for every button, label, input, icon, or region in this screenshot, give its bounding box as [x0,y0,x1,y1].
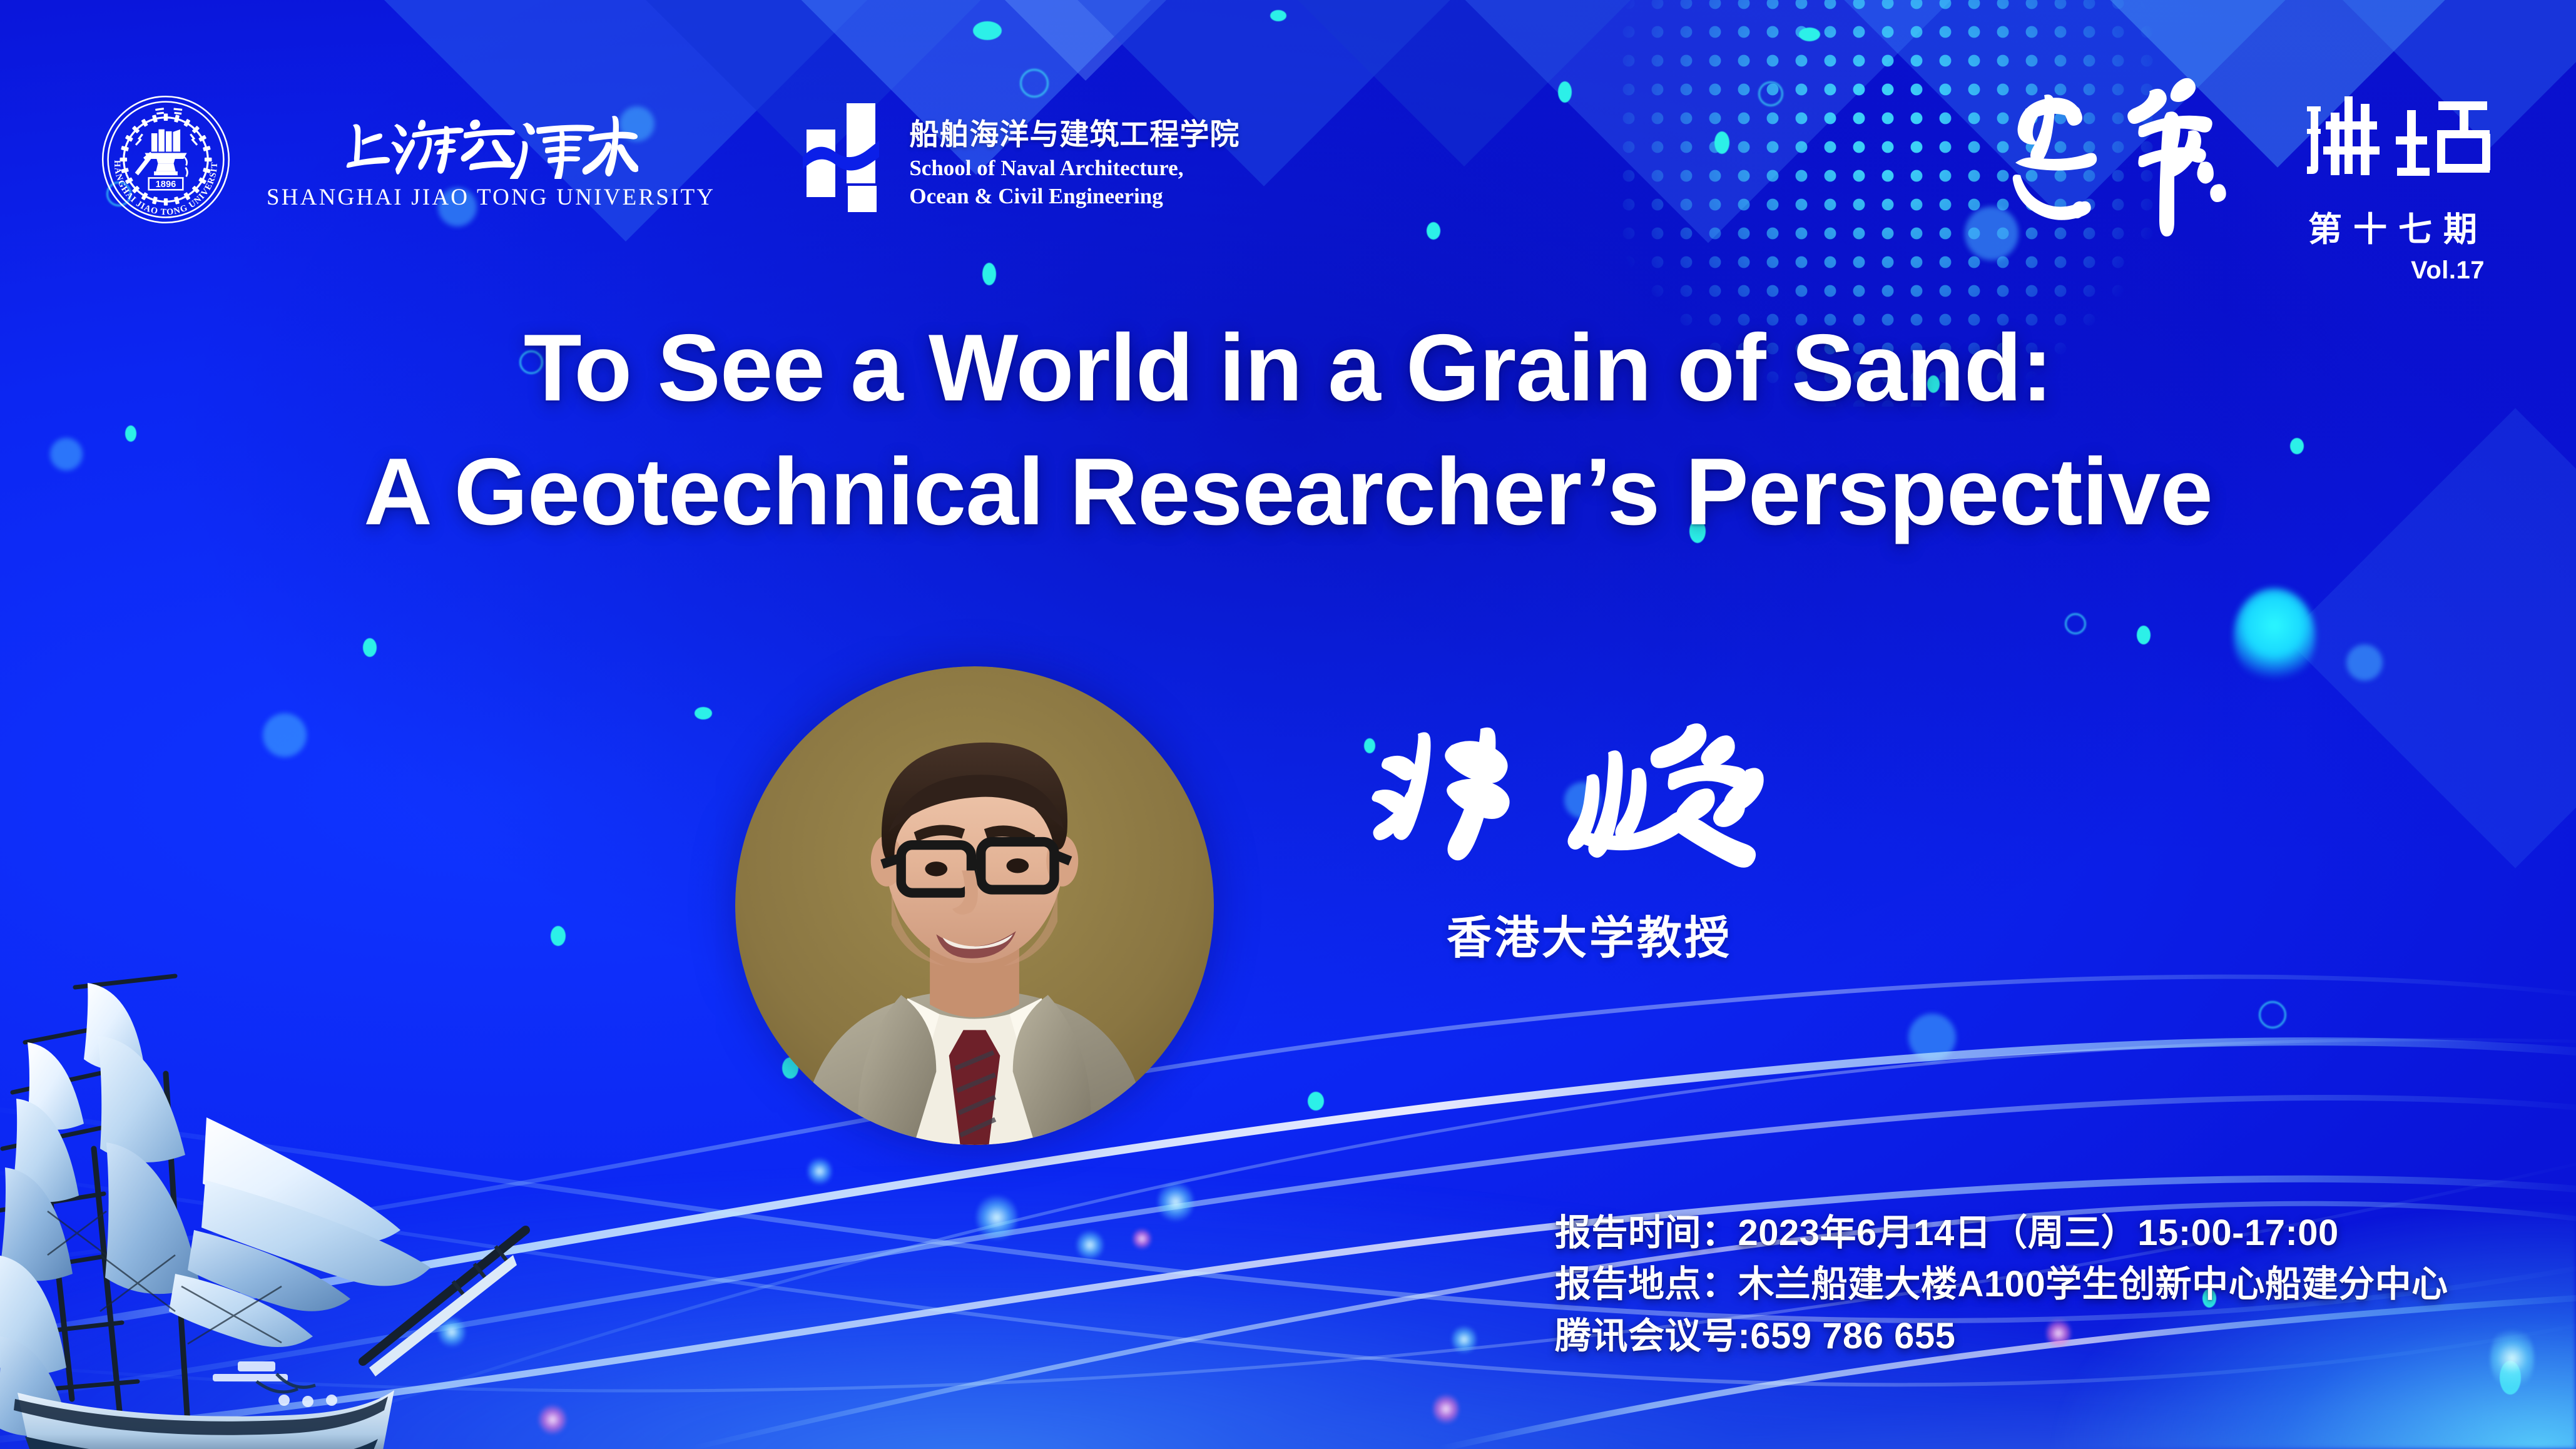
forum-calligraphy-sihua [1982,69,2332,257]
forum-issue-label: 第十七期 [2308,201,2488,251]
header-logo-row: 1896 SHANGHAI JIAO TONG UNIVERSITY [100,94,1240,225]
event-venue-line: 报告地点：木兰船建大楼A100学生创新中心船建分中心 [1555,1259,2448,1310]
cyan-glow-accent [2234,588,2315,682]
sjtu-wordmark: SHANGHAI JIAO TONG UNIVERSITY [267,109,715,211]
sailing-ship-illustration [0,961,551,1449]
school-logo-block: 船舶海洋与建筑工程学院 School of Naval Architecture… [794,103,1240,216]
sjtu-english-name: SHANGHAI JIAO TONG UNIVERSITY [267,184,715,211]
event-time-line: 报告时间：2023年6月14日（周三）15:00-17:00 [1555,1207,2448,1259]
forum-name-jiangtan [2303,85,2491,191]
school-chinese-name: 船舶海洋与建筑工程学院 [909,110,1240,153]
title-line-2: A Geotechnical Researcher’s Perspective [0,430,2576,554]
forum-volume-label: Vol.17 [2411,257,2485,285]
tall-ship-graphic [0,961,551,1449]
avatar [735,666,1214,1145]
school-english-name-line2: Ocean & Civil Engineering [909,184,1240,210]
speaker-portrait-illustration [735,666,1214,1145]
poster-canvas: 1896 SHANGHAI JIAO TONG UNIVERSITY [0,0,2576,1449]
page-title: To See a World in a Grain of Sand: A Geo… [0,307,2576,554]
event-details: 报告时间：2023年6月14日（周三）15:00-17:00 报告地点：木兰船建… [1555,1207,2448,1362]
svg-text:1896: 1896 [156,180,176,190]
speaker-name-calligraphy [1358,716,1821,873]
speaker-affiliation: 香港大学教授 [1358,901,1821,967]
forum-branding: 第十七期 Vol.17 [1988,69,2495,294]
title-line-1: To See a World in a Grain of Sand: [0,307,2576,430]
sjtu-seal-logo: 1896 SHANGHAI JIAO TONG UNIVERSITY [100,94,232,225]
naoce-mark-icon [794,103,888,216]
sjtu-chinese-calligraphy [344,109,638,179]
event-meeting-line: 腾讯会议号:659 786 655 [1555,1311,2448,1362]
school-english-name-line1: School of Naval Architecture, [909,156,1240,181]
